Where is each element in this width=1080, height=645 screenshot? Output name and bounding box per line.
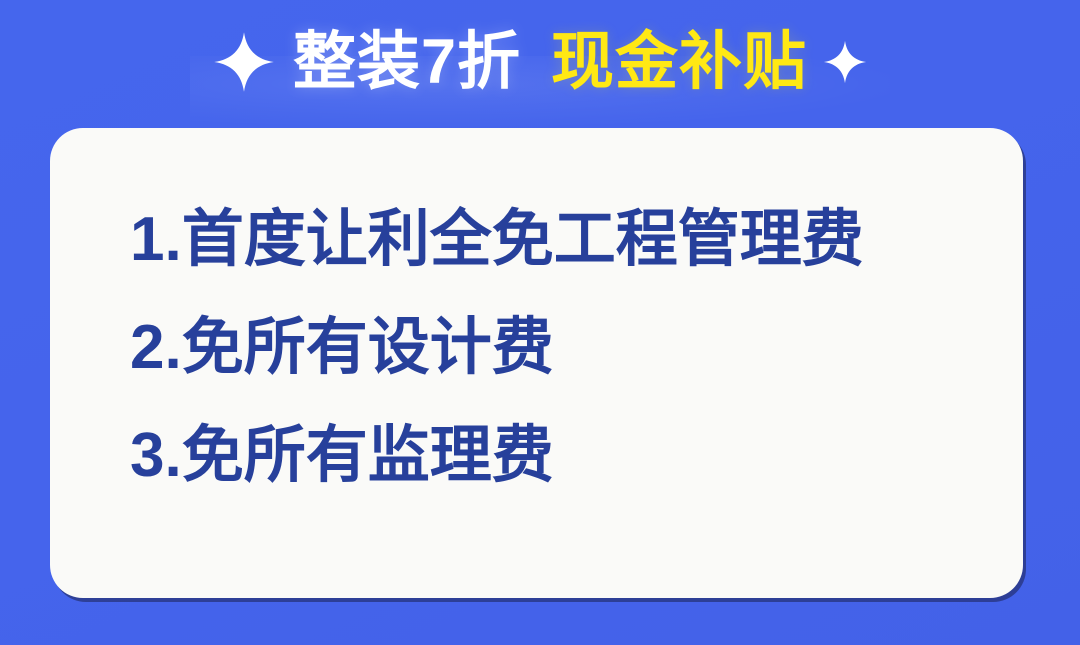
list-item: 3.免所有监理费 [130, 402, 983, 510]
banner-header: 整装7折 现金补贴 [0, 14, 1080, 110]
benefits-list: 1.首度让利全免工程管理费 2.免所有设计费 3.免所有监理费 [130, 186, 983, 510]
benefits-card: 1.首度让利全免工程管理费 2.免所有设计费 3.免所有监理费 [50, 128, 1023, 598]
sparkle-icon [213, 31, 275, 93]
list-item: 1.首度让利全免工程管理费 [130, 186, 983, 294]
list-item: 2.免所有设计费 [130, 294, 983, 402]
sparkle-icon [823, 40, 867, 84]
banner-title-accent: 现金补贴 [551, 31, 807, 94]
banner-title-main: 整装7折 [293, 31, 521, 94]
promo-banner: 整装7折 现金补贴 1.首度让利全免工程管理费 2.免所有设计费 3.免所有监理… [0, 0, 1080, 645]
